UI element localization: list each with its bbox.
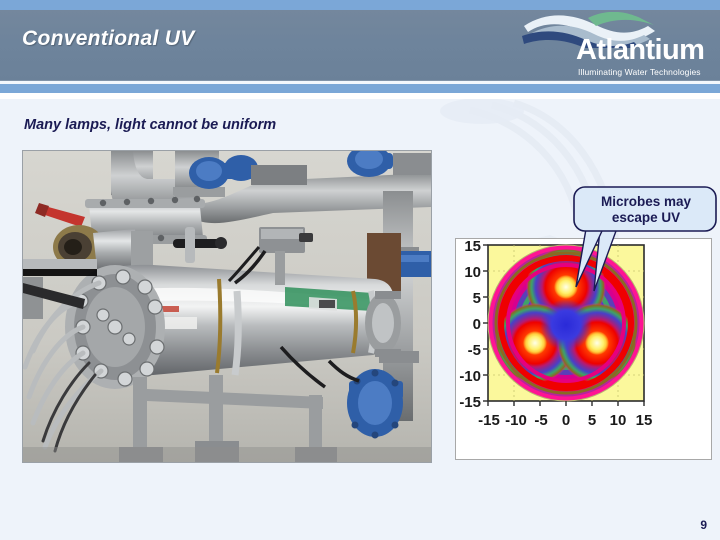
svg-text:5: 5: [588, 412, 596, 429]
header-accent-band: [0, 84, 720, 93]
svg-text:-10: -10: [505, 412, 527, 429]
callout-line-2: escape UV: [612, 210, 680, 225]
callout-line-1: Microbes may: [601, 194, 691, 209]
svg-text:0: 0: [473, 316, 481, 333]
callout-text: Microbes may escape UV: [580, 194, 712, 227]
svg-text:0: 0: [562, 412, 570, 429]
svg-text:-10: -10: [459, 368, 481, 385]
svg-text:-15: -15: [459, 394, 481, 411]
svg-text:15: 15: [464, 239, 481, 255]
header-top-strip: [0, 0, 720, 10]
header-band-fade: [0, 93, 720, 99]
page-title: Conventional UV: [22, 27, 195, 51]
uv-reactor-photo: [22, 150, 432, 463]
svg-text:15: 15: [636, 412, 653, 429]
svg-text:10: 10: [464, 264, 481, 281]
svg-text:-5: -5: [468, 342, 481, 359]
brand-logo: Atlantium Illuminating Water Technologie…: [514, 12, 714, 82]
logo-tagline: Illuminating Water Technologies: [578, 67, 701, 77]
svg-text:-5: -5: [534, 412, 547, 429]
uv-dose-map-chart: 15 10 5 0 -5 -10 -15 -15 -10 -5 0 5 10 1…: [455, 238, 712, 460]
slide: Conventional UV Atlantium Illuminating W…: [0, 0, 720, 540]
slide-subtitle: Many lamps, light cannot be uniform: [24, 117, 276, 133]
svg-text:10: 10: [610, 412, 627, 429]
svg-text:5: 5: [473, 290, 481, 307]
svg-text:-15: -15: [478, 412, 500, 429]
page-number: 9: [700, 518, 707, 532]
logo-wordmark: Atlantium: [576, 36, 704, 65]
